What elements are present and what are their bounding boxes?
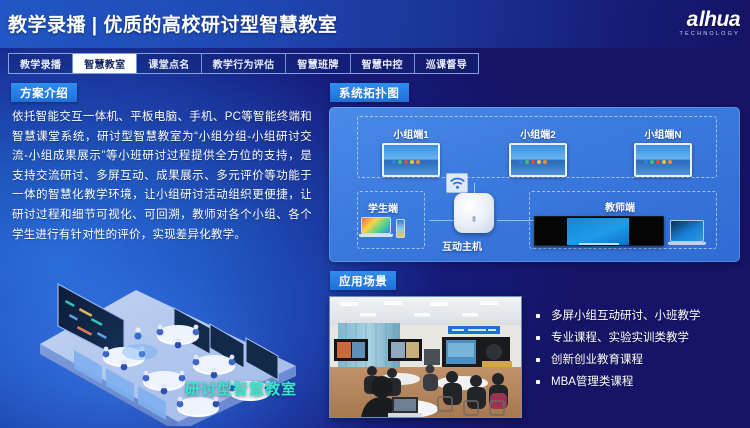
list-item: MBA管理类课程 bbox=[534, 372, 742, 393]
logo-wordmark: alhua bbox=[684, 10, 740, 30]
tab-lubo[interactable]: 教学录播 bbox=[9, 54, 73, 73]
bigscreen-icon bbox=[534, 216, 664, 246]
section-badge-scenario: 应用场景 bbox=[330, 271, 396, 290]
topology-node-group-1: 小组端1 bbox=[382, 126, 440, 177]
classroom-illustration bbox=[18, 274, 318, 426]
topology-node-host bbox=[454, 193, 494, 233]
scenario-photo bbox=[329, 296, 522, 418]
wifi-icon bbox=[446, 173, 468, 193]
laptop-icon bbox=[361, 217, 393, 238]
scenario-bullet-list: 多屏小组互动研讨、小班教学 专业课程、实验实训类教学 创新创业教育课程 MBA管… bbox=[534, 306, 742, 394]
topology-node-group-2: 小组端2 bbox=[509, 126, 567, 177]
dahua-logo: alhua TECHNOLOGY bbox=[608, 8, 740, 38]
monitor-icon bbox=[382, 143, 440, 177]
access-point-icon bbox=[454, 193, 494, 233]
illustration-caption: 研讨型智慧教室 bbox=[185, 378, 297, 399]
section-badge-topology: 系统拓扑图 bbox=[330, 83, 409, 102]
plan-description: 依托智能交互一体机、平板电脑、手机、PC等智能终端和智慧课堂系统，研讨型智慧教室… bbox=[12, 108, 312, 245]
list-item: 多屏小组互动研讨、小班教学 bbox=[534, 306, 742, 327]
list-item: 专业课程、实验实训类教学 bbox=[534, 328, 742, 349]
node-label-group-n: 小组端N bbox=[634, 126, 692, 141]
monitor-icon bbox=[509, 143, 567, 177]
logo-rest: lhua bbox=[699, 8, 740, 31]
monitor-icon bbox=[634, 143, 692, 177]
topology-link-right bbox=[497, 220, 535, 221]
teacher-laptop-icon bbox=[670, 220, 706, 246]
topology-panel: 小组端1 小组端2 小组端N 学生端 bbox=[329, 107, 740, 262]
tab-bar[interactable]: 教学录播 智慧教室 课堂点名 教学行为评估 智慧班牌 智慧中控 巡课督导 bbox=[8, 53, 479, 74]
node-label-group-1: 小组端1 bbox=[382, 126, 440, 141]
tab-behavior[interactable]: 教学行为评估 bbox=[202, 54, 287, 73]
tab-xunke[interactable]: 巡课督导 bbox=[415, 54, 478, 73]
logo-mark-a: a bbox=[684, 10, 699, 30]
list-item: 创新创业教育课程 bbox=[534, 350, 742, 371]
node-label-students: 学生端 bbox=[361, 200, 405, 215]
topology-node-students: 学生端 bbox=[361, 200, 405, 238]
tab-classroom[interactable]: 智慧教室 bbox=[73, 54, 137, 73]
phone-icon bbox=[396, 219, 405, 238]
slide-header: 教学录播 | 优质的高校研讨型智慧教室 alhua TECHNOLOGY bbox=[0, 0, 750, 48]
logo-subtitle: TECHNOLOGY bbox=[679, 31, 740, 37]
node-label-host: 互动主机 bbox=[442, 238, 506, 253]
topology-node-group-n: 小组端N bbox=[634, 126, 692, 177]
tab-banpai[interactable]: 智慧班牌 bbox=[286, 54, 350, 73]
section-badge-plan: 方案介绍 bbox=[11, 83, 77, 102]
topology-link-left bbox=[429, 220, 457, 221]
node-label-teacher: 教师端 bbox=[534, 199, 706, 214]
tab-zhongkong[interactable]: 智慧中控 bbox=[351, 54, 415, 73]
slide-canvas: 教学录播 | 优质的高校研讨型智慧教室 alhua TECHNOLOGY 教学录… bbox=[0, 0, 750, 428]
tab-rollcall[interactable]: 课堂点名 bbox=[137, 54, 201, 73]
topology-node-teacher: 教师端 bbox=[534, 199, 706, 246]
page-title: 教学录播 | 优质的高校研讨型智慧教室 bbox=[8, 10, 337, 37]
node-label-group-2: 小组端2 bbox=[509, 126, 567, 141]
